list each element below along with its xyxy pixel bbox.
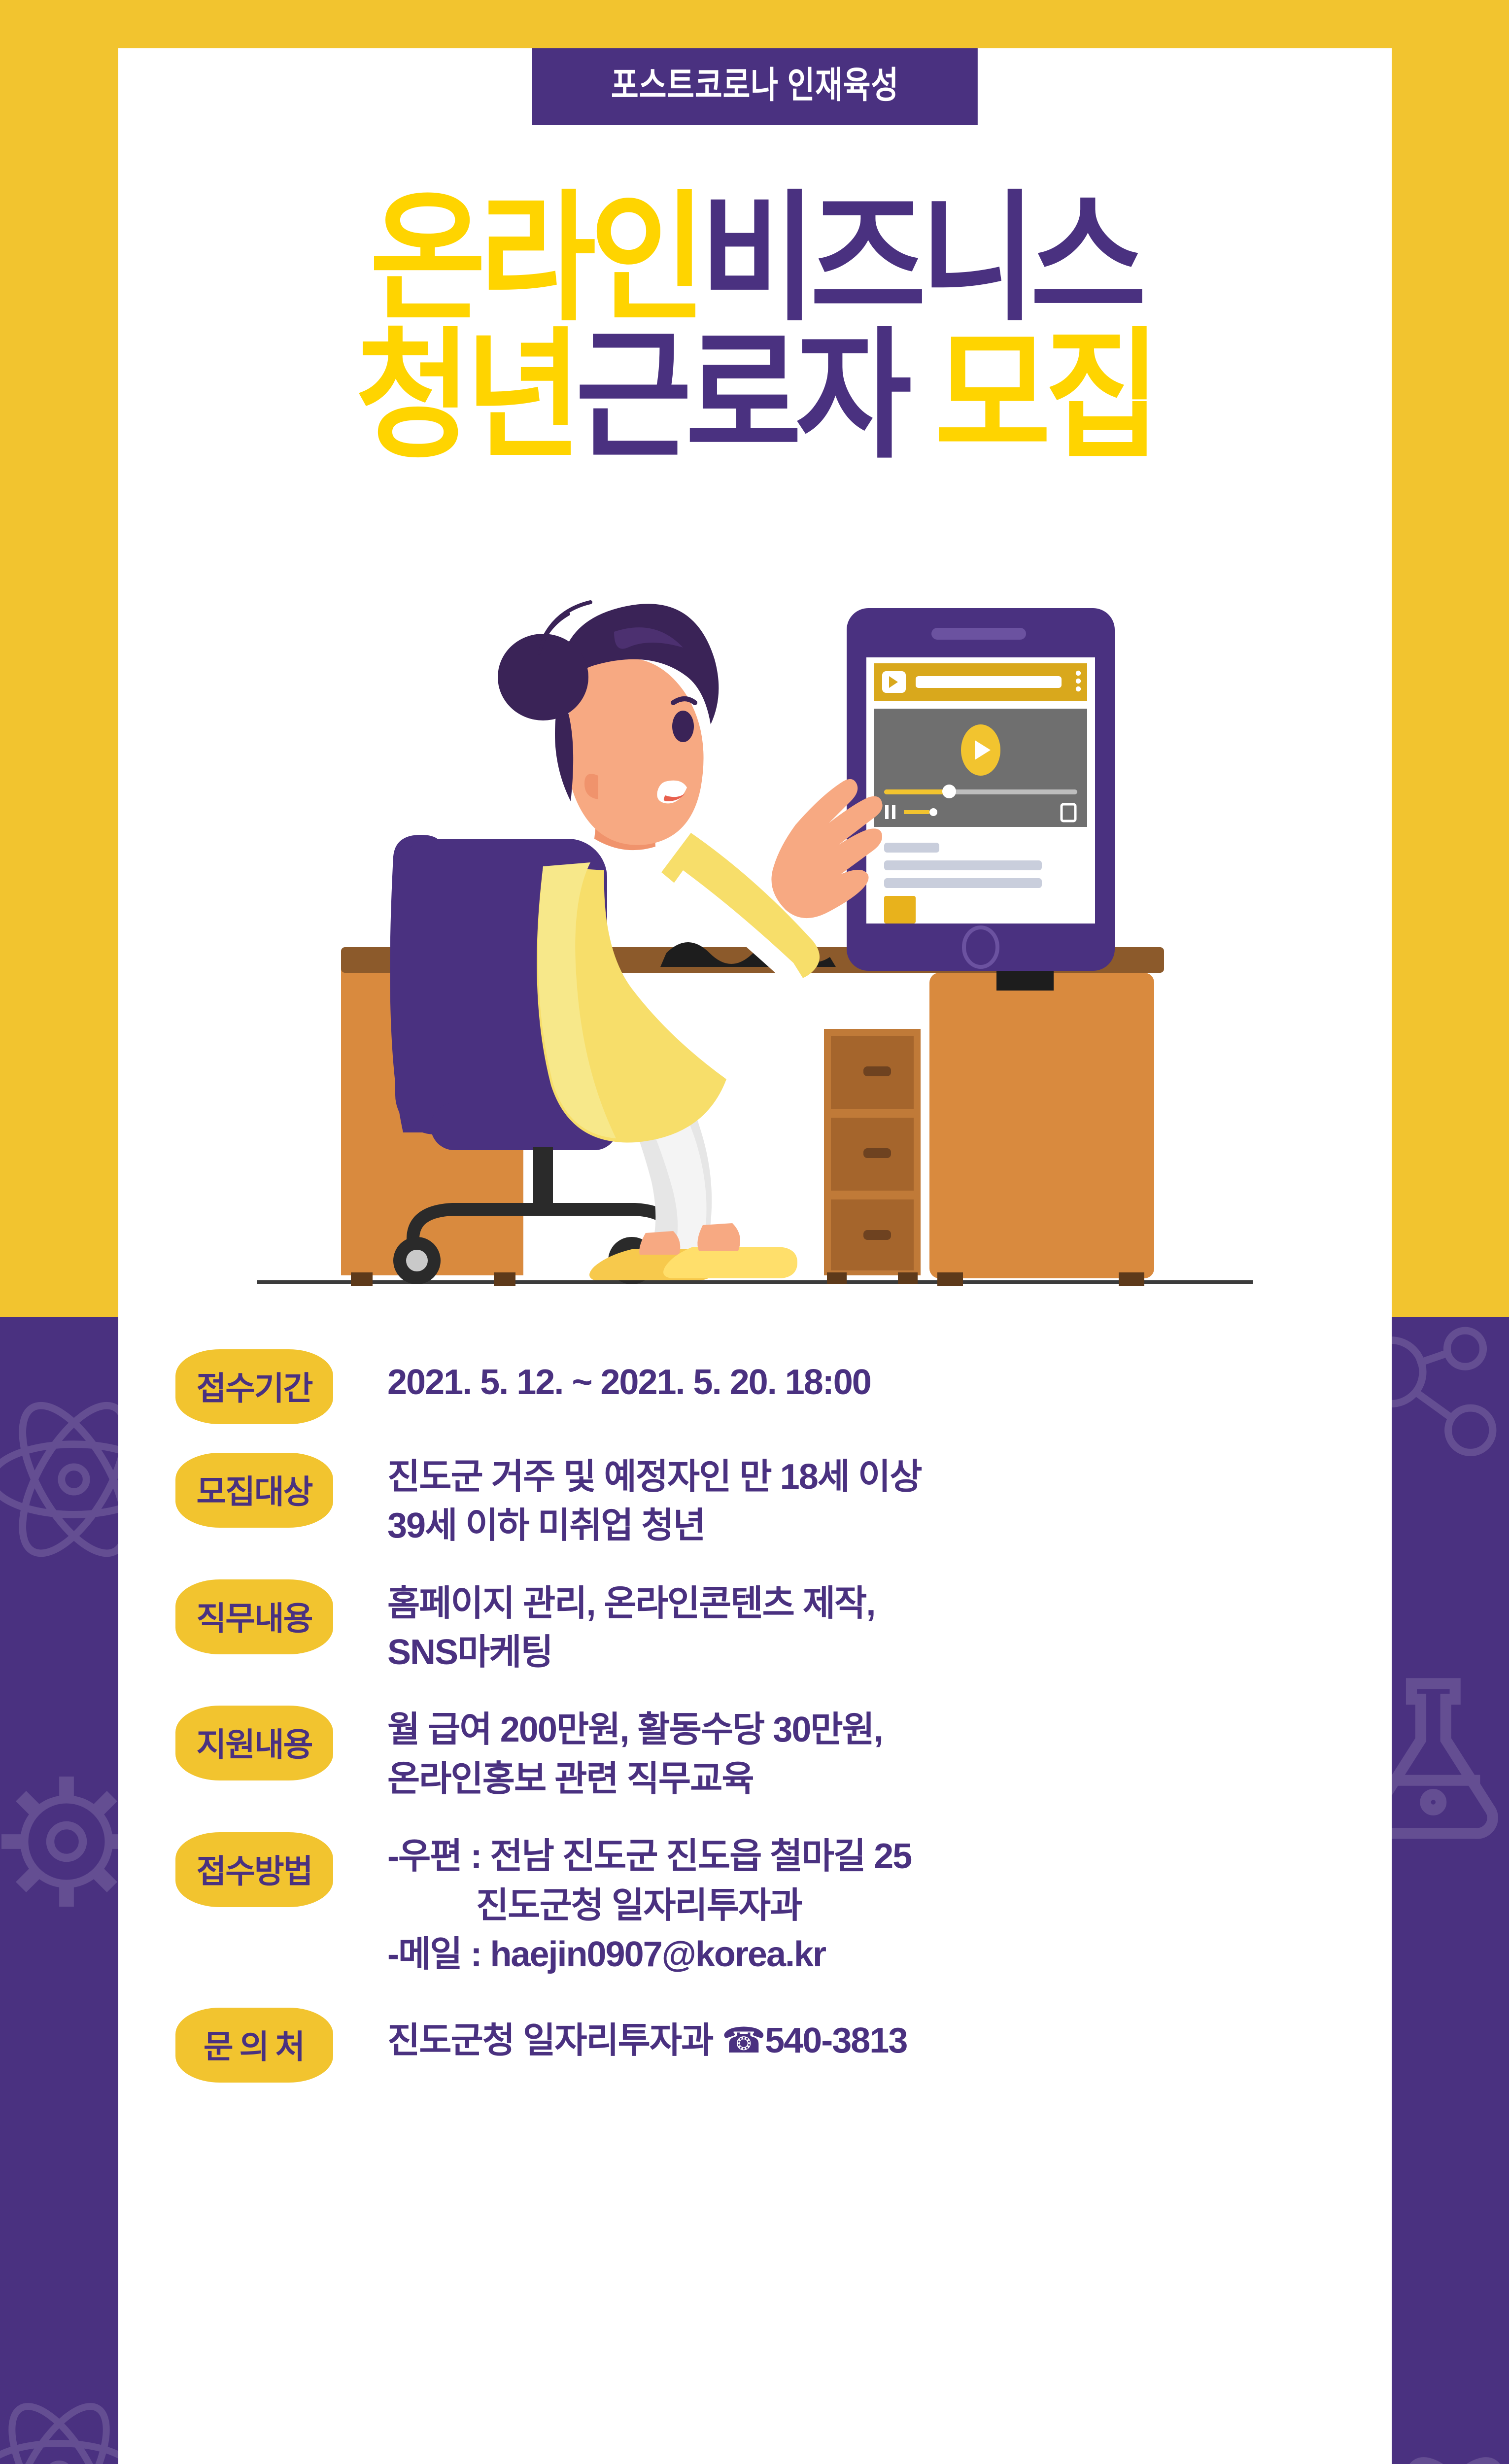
value-line: 온라인홍보 관련 직무교육 [387,1755,1338,1804]
value-line-phone[interactable]: 진도군청 일자리투자과 ☎540-3813 [387,2017,1338,2065]
value-eligibility: 진도군 거주 및 예정자인 만 18세 이상 39세 이하 미취업 청년 [333,1453,1338,1551]
label-application-period: 접수기간 [175,1349,333,1424]
info-row-job-duties: 직무내용 홈페이지 관리, 온라인콘텐츠 제작, SNS마케팅 [175,1579,1338,1677]
headline-online: 온라인 [370,180,700,337]
info-row-benefits: 지원내용 월 급여 200만원, 활동수당 30만원, 온라인홍보 관련 직무교… [175,1706,1338,1804]
workspace-illustration [247,571,1263,1295]
label-benefits: 지원내용 [175,1706,333,1780]
value-benefits: 월 급여 200만원, 활동수당 30만원, 온라인홍보 관련 직무교육 [333,1706,1338,1804]
value-line: 2021. 5. 12. ~ 2021. 5. 20. 18:00 [387,1358,1338,1407]
page-title: 온라인비즈니스 청년근로자 모집 [118,190,1392,466]
value-application-period: 2021. 5. 12. ~ 2021. 5. 20. 18:00 [333,1349,1338,1407]
headline-worker: 근로자 [576,318,906,475]
headline-line-2: 청년근로자 모집 [182,328,1328,465]
label-eligibility: 모집대상 [175,1453,333,1528]
value-how-to-apply: -우편 : 전남 진도군 진도읍 철마길 25 진도군청 일자리투자과 -메일 … [333,1832,1338,1979]
headline-youth: 청년 [355,318,576,475]
headline-business: 비즈니스 [700,180,1140,337]
info-row-contact: 문의처 진도군청 일자리투자과 ☎540-3813 [175,2008,1338,2083]
label-job-duties: 직무내용 [175,1579,333,1654]
value-line: SNS마케팅 [387,1628,1338,1677]
headline-recruit: 모집 [906,318,1155,475]
info-row-eligibility: 모집대상 진도군 거주 및 예정자인 만 18세 이상 39세 이하 미취업 청… [175,1453,1338,1551]
drawer-cabinet [824,1029,921,1284]
value-line-post: -우편 : 전남 진도군 진도읍 철마길 25 [387,1832,1338,1881]
value-line: 39세 이하 미취업 청년 [387,1502,1338,1550]
kicker-label: 포스트코로나 인재육성 [611,67,899,103]
info-row-application-period: 접수기간 2021. 5. 12. ~ 2021. 5. 20. 18:00 [175,1349,1338,1424]
headline-line-1: 온라인비즈니스 [182,190,1328,328]
label-contact: 문의처 [175,2008,333,2083]
monitor [847,608,1115,971]
value-contact: 진도군청 일자리투자과 ☎540-3813 [333,2008,1338,2065]
value-line: 월 급여 200만원, 활동수당 30만원, [387,1706,1338,1754]
kicker-badge: 포스트코로나 인재육성 [532,48,978,125]
value-job-duties: 홈페이지 관리, 온라인콘텐츠 제작, SNS마케팅 [333,1579,1338,1677]
poster-card: 포스트코로나 인재육성 온라인비즈니스 청년근로자 모집 [118,48,1392,2464]
value-line: 진도군 거주 및 예정자인 만 18세 이상 [387,1453,1338,1502]
info-list: 접수기간 2021. 5. 12. ~ 2021. 5. 20. 18:00 모… [175,1349,1338,2111]
value-line-email[interactable]: -메일 : haejin0907@korea.kr [387,1930,1338,1979]
poster-root: 포스트코로나 인재육성 온라인비즈니스 청년근로자 모집 [0,0,1509,2464]
label-how-to-apply: 접수방법 [175,1832,333,1907]
value-line: 홈페이지 관리, 온라인콘텐츠 제작, [387,1579,1338,1628]
value-line-post-dept: 진도군청 일자리투자과 [387,1882,1338,1930]
info-row-how-to-apply: 접수방법 -우편 : 전남 진도군 진도읍 철마길 25 진도군청 일자리투자과… [175,1832,1338,1979]
